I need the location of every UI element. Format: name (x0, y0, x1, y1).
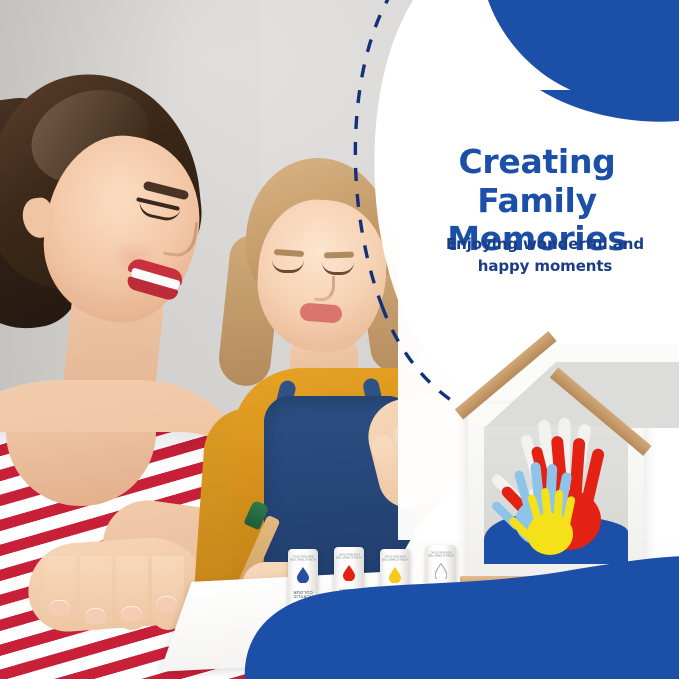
paint-tube-cap (292, 623, 314, 643)
paint-tube-body: ACRYLIC PAINT FOR KIDS NON TOXIC ACRYLIC… (426, 545, 456, 611)
paint-tube-label-top: ACRYLIC PAINT FOR KIDS NON TOXIC (336, 552, 362, 557)
paint-tube-label-bottom: ACRYLIC COLOUR (382, 589, 408, 598)
headline-line-1: Creating Family (404, 143, 670, 220)
paint-tube-white: ACRYLIC PAINT FOR KIDS NON TOXIC ACRYLIC… (426, 545, 456, 637)
paint-drop-icon (435, 563, 447, 579)
product-lifestyle-banner: Creating Family Memories Enjoying wonder… (0, 0, 679, 679)
paint-tube-label-top: ACRYLIC PAINT FOR KIDS NON TOXIC (382, 554, 408, 559)
paint-drop-icon (297, 567, 309, 583)
paint-tube-cap (430, 619, 452, 639)
paint-tube-blue: ACRYLIC PAINT FOR KIDS NON TOXIC ACRYLIC… (288, 549, 318, 641)
paint-tube-label-top: ACRYLIC PAINT FOR KIDS NON TOXIC (428, 550, 454, 555)
paint-tube-label-top: ACRYLIC PAINT FOR KIDS NON TOXIC (290, 554, 316, 559)
paint-tube-cap (338, 621, 360, 641)
frame-wooden-base-shelf (460, 576, 652, 586)
house-keepsake-frame (462, 348, 652, 593)
paint-tube-label-bottom: ACRYLIC COLOUR (336, 587, 362, 596)
headline-subtitle: Enjoying wonderful and happy moments (420, 234, 670, 278)
subtitle-line-1: Enjoying wonderful and (420, 234, 670, 256)
paint-tube-red: ACRYLIC PAINT FOR KIDS NON TOXIC ACRYLIC… (334, 547, 364, 639)
paint-tube-body: ACRYLIC PAINT FOR KIDS NON TOXIC ACRYLIC… (334, 547, 364, 613)
subtitle-line-2: happy moments (420, 256, 670, 278)
paint-tube-label-bottom: ACRYLIC COLOUR (428, 585, 454, 594)
paint-drop-icon (389, 567, 401, 583)
paint-tube-body: ACRYLIC PAINT FOR KIDS NON TOXIC ACRYLIC… (380, 549, 410, 615)
paint-tube-yellow: ACRYLIC PAINT FOR KIDS NON TOXIC ACRYLIC… (380, 549, 410, 641)
handprint-artwork (484, 362, 628, 567)
paint-drop-icon (343, 565, 355, 581)
paint-tube-body: ACRYLIC PAINT FOR KIDS NON TOXIC ACRYLIC… (288, 549, 318, 615)
paint-tube-label-bottom: ACRYLIC COLOUR (290, 589, 316, 598)
paint-tube-cap (384, 623, 406, 643)
